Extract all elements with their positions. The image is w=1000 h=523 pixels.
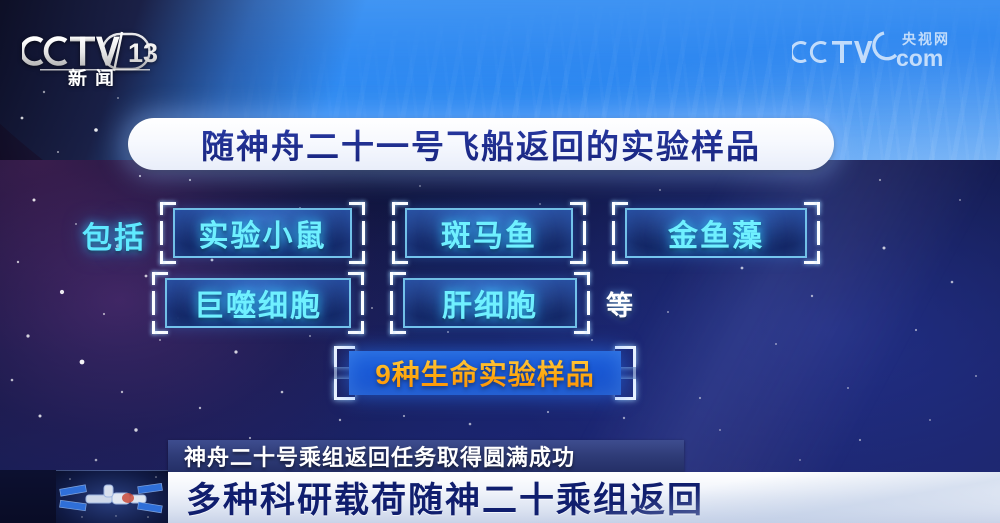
- include-label: 包括: [82, 213, 146, 257]
- watermark-chinese: 央视网: [902, 31, 950, 47]
- sample-chip-5: 肝细胞: [390, 272, 590, 334]
- sample-label: 实验小鼠: [199, 211, 327, 255]
- lower-third-subtitle-band: 神舟二十号乘组返回任务取得圆满成功: [168, 440, 684, 472]
- cctv13-logo: 13 新闻: [22, 28, 172, 86]
- lower-third-headline: 多种科研载荷随神二十乘组返回: [186, 472, 704, 523]
- sample-chip-3: 金鱼藻: [612, 202, 820, 264]
- etc-label: 等: [606, 284, 633, 323]
- sample-chip-inner: 斑马鱼: [405, 208, 573, 258]
- cctv-com-watermark: com 央视网: [792, 22, 982, 80]
- sample-chip-inner: 肝细胞: [403, 278, 577, 328]
- highlight-label: 9种生命实验样品: [375, 353, 595, 393]
- logo-subtitle: 新闻: [68, 67, 122, 86]
- space-station-thumbnail: [56, 470, 168, 523]
- highlight-sample-count: 9种生命实验样品: [334, 346, 636, 400]
- sample-chip-inner: 实验小鼠: [173, 208, 352, 258]
- sample-chip-inner: 巨噬细胞: [165, 278, 351, 328]
- sample-chip-2: 斑马鱼: [392, 202, 586, 264]
- sample-label: 斑马鱼: [441, 211, 537, 255]
- sample-chip-4: 巨噬细胞: [152, 272, 364, 334]
- graphic-title-text: 随神舟二十一号飞船返回的实验样品: [201, 120, 761, 168]
- watermark-domain: com: [896, 45, 943, 71]
- sample-chip-inner: 金鱼藻: [625, 208, 807, 258]
- lower-third-subtitle: 神舟二十号乘组返回任务取得圆满成功: [184, 440, 575, 472]
- sample-label: 巨噬细胞: [194, 281, 322, 325]
- lower-third-left-filler: [0, 470, 56, 523]
- graphic-title-pill: 随神舟二十一号飞船返回的实验样品: [128, 118, 834, 170]
- sample-label: 肝细胞: [442, 281, 538, 325]
- sample-label: 金鱼藻: [668, 211, 764, 255]
- logo-number: 13: [128, 38, 158, 68]
- highlight-box: 9种生命实验样品: [349, 351, 621, 395]
- lower-third-headline-band: 多种科研载荷随神二十乘组返回: [168, 472, 1000, 523]
- broadcast-screenshot: 13 新闻 com 央视网 随神舟二十一号飞船返回的实验样品 包括: [0, 0, 1000, 523]
- sample-chip-1: 实验小鼠: [160, 202, 365, 264]
